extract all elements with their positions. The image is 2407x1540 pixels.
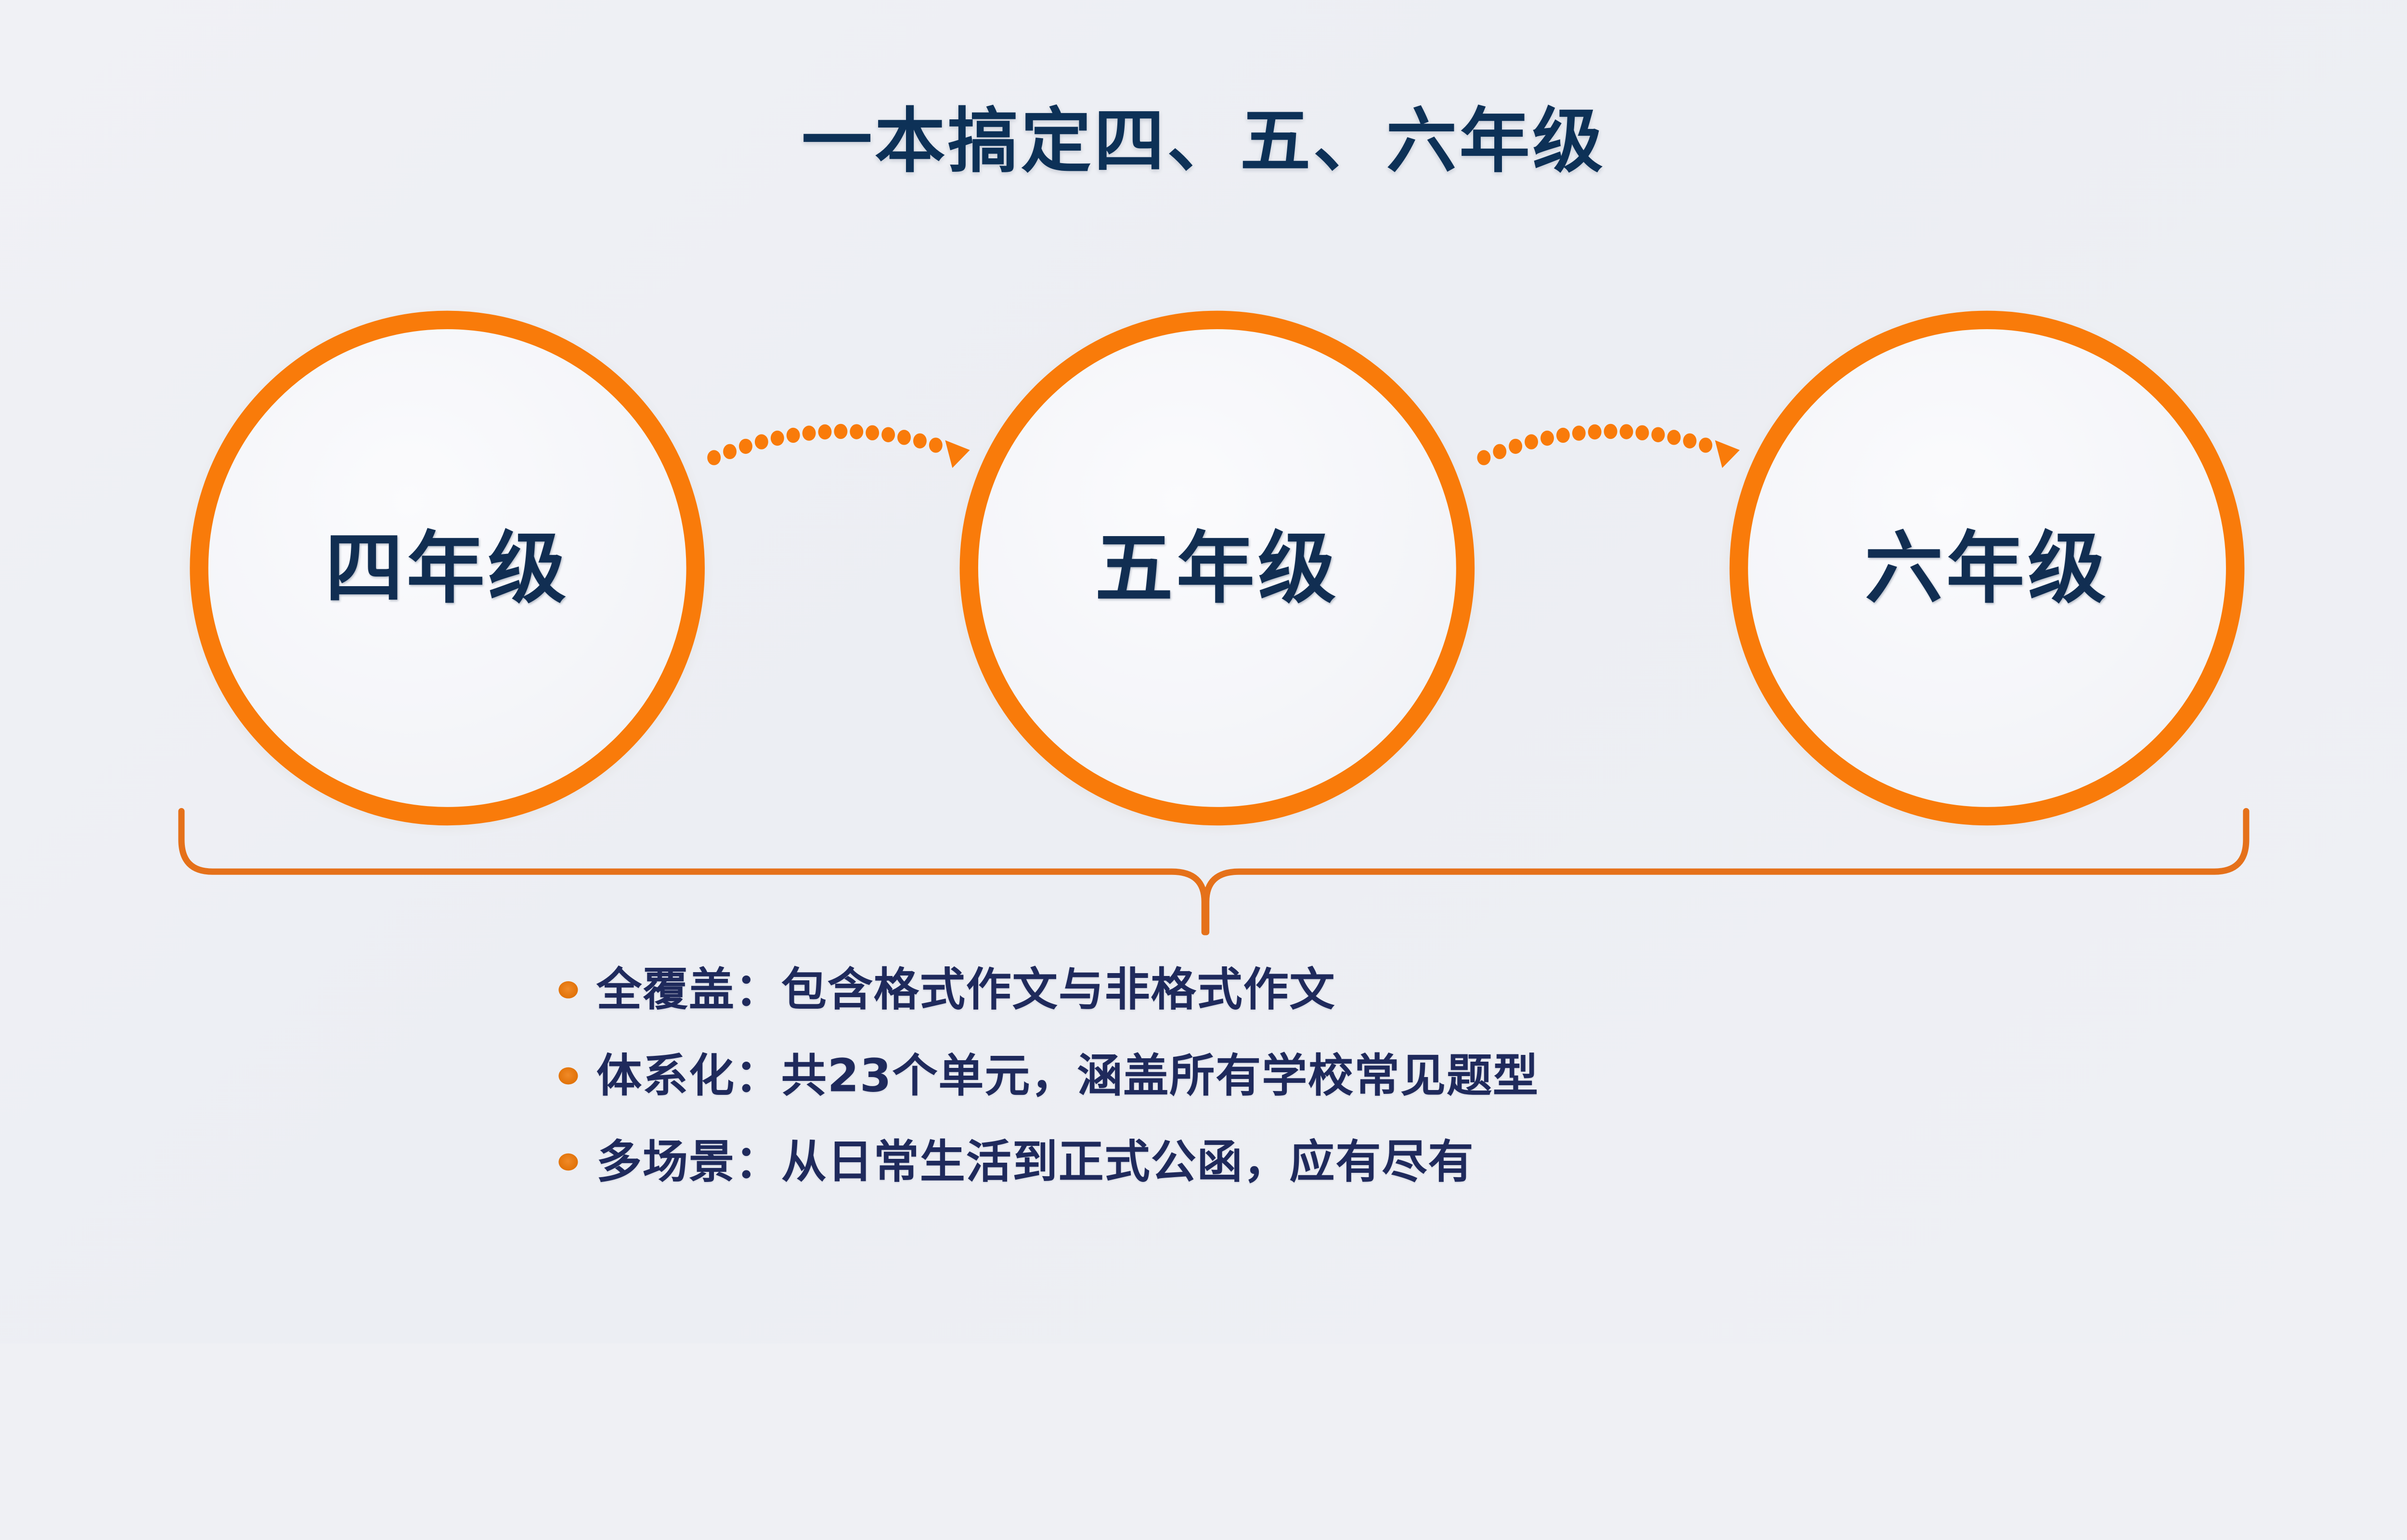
connector-dot-icon	[723, 444, 737, 459]
connector-dot-icon	[1651, 427, 1665, 442]
feature-list: 全覆盖：包含格式作文与非格式作文 体系化：共23个单元，涵盖所有学校常见题型 多…	[558, 947, 2071, 1205]
grade-circle-1[interactable]: 四年级	[190, 311, 705, 826]
feature-text-3: 多场景：从日常生活到正式公函，应有尽有	[596, 1139, 1474, 1184]
connector-dot-icon	[1572, 425, 1586, 440]
connector-dot-icon	[866, 425, 879, 440]
connector-dot-icon	[897, 430, 911, 445]
connector-dot-icon	[1683, 433, 1696, 448]
list-item: 多场景：从日常生活到正式公函，应有尽有	[558, 1119, 2071, 1205]
connector-dot-icon	[1540, 431, 1554, 446]
infographic-canvas: 一本搞定四、五、六年级 四年级 五年级 六年级 全覆盖：包含格式作	[0, 0, 2407, 1344]
bullet-dot-icon	[558, 1067, 578, 1085]
connector-dot-icon	[1604, 424, 1618, 439]
list-item: 全覆盖：包含格式作文与非格式作文	[558, 947, 2071, 1033]
grade-label-2: 五年级	[1095, 529, 1339, 607]
page-title: 一本搞定四、五、六年级	[0, 84, 2407, 186]
grade-label-1: 四年级	[325, 529, 569, 607]
connector-dot-icon	[802, 425, 816, 440]
connector-dot-icon	[913, 433, 927, 448]
grade-circle-3[interactable]: 六年级	[1730, 311, 2245, 826]
connector-dot-icon	[1667, 430, 1681, 445]
connector-dot-icon	[1509, 439, 1522, 454]
connector-dot-icon	[787, 428, 800, 443]
connector-dot-icon	[1525, 434, 1538, 449]
connector-dot-icon	[929, 437, 943, 452]
connector-dot-icon	[1493, 444, 1506, 459]
grade-label-3: 六年级	[1865, 529, 2109, 607]
connector-dot-icon	[818, 424, 832, 439]
connector-dot-icon	[1620, 424, 1633, 439]
connector-arrowhead-icon	[945, 440, 970, 468]
connector-dot-icon	[834, 424, 847, 439]
feature-text-2: 体系化：共23个单元，涵盖所有学校常见题型	[596, 1053, 1539, 1099]
connector-arrowhead-icon	[1715, 440, 1740, 468]
connector-dot-icon	[755, 434, 768, 449]
connector-arrow-1	[707, 424, 970, 468]
connector-dot-icon	[707, 450, 721, 465]
connector-dot-icon	[1477, 450, 1490, 465]
grade-circle-2[interactable]: 五年级	[960, 311, 1475, 826]
connector-dot-icon	[850, 424, 863, 439]
grade-circle-row: 四年级 五年级 六年级	[0, 311, 2407, 836]
connector-dot-icon	[1635, 425, 1649, 440]
connector-dot-icon	[881, 427, 895, 442]
connector-dot-icon	[739, 439, 752, 454]
connector-arrow-2	[1477, 424, 1739, 468]
bullet-dot-icon	[558, 1154, 578, 1171]
connector-dot-icon	[1588, 424, 1602, 439]
list-item: 体系化：共23个单元，涵盖所有学校常见题型	[558, 1033, 2071, 1119]
feature-text-1: 全覆盖：包含格式作文与非格式作文	[596, 967, 1336, 1013]
connector-dot-icon	[1699, 437, 1712, 452]
bullet-dot-icon	[558, 981, 578, 999]
connector-dot-icon	[1556, 428, 1570, 443]
connector-dot-icon	[771, 431, 784, 446]
